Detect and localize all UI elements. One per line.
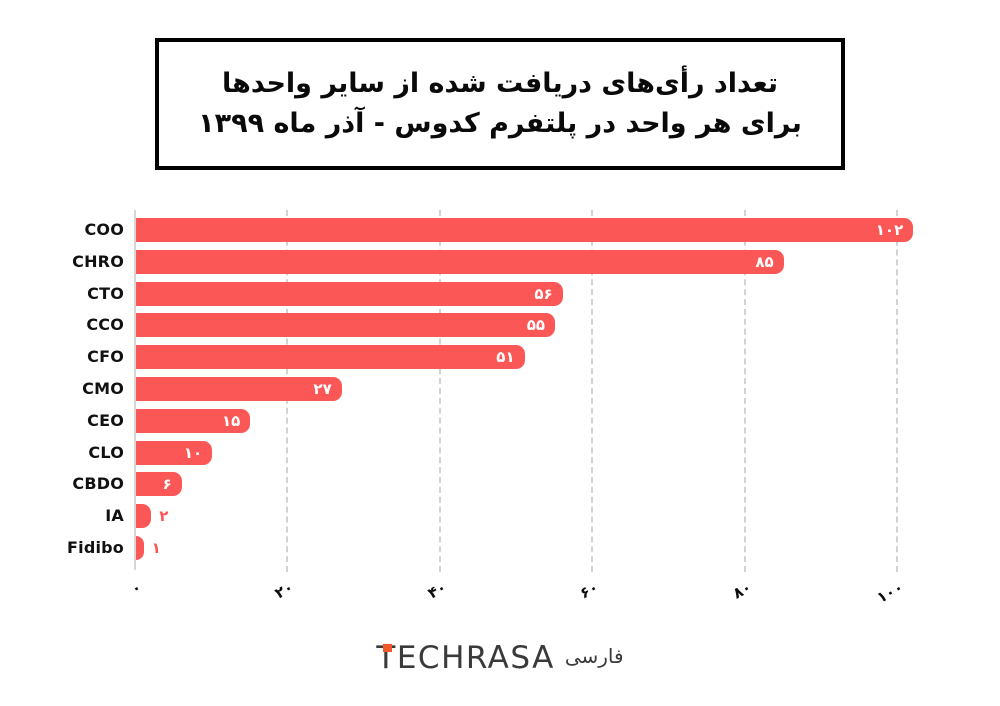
bar-row: CEO۱۵ bbox=[0, 409, 1000, 433]
bar-value-label-chro: ۸۵ bbox=[136, 250, 774, 274]
bar-value-label-cfo: ۵۱ bbox=[136, 345, 515, 369]
bar-row: CFO۵۱ bbox=[0, 345, 1000, 369]
chart-title-line-2: برای هر واحد در پلتفرم کدوس - آذر ماه ۱۳… bbox=[198, 107, 802, 141]
bar-value-label-ceo: ۱۵ bbox=[136, 409, 240, 433]
bar-row: CMO۲۷ bbox=[0, 377, 1000, 401]
x-tick-label-60: ۶۰ bbox=[563, 578, 601, 610]
category-label-cfo: CFO bbox=[0, 345, 124, 369]
bar-row: COO۱۰۲ bbox=[0, 218, 1000, 242]
category-label-cbdo: CBDO bbox=[0, 472, 124, 496]
bar-row: CBDO۶ bbox=[0, 472, 1000, 496]
category-label-ia: IA bbox=[0, 504, 124, 528]
techrasa-wordmark-text: TECHRASA bbox=[376, 640, 554, 676]
bar-row: Fidibo۱ bbox=[0, 536, 1000, 560]
bar-value-label-coo: ۱۰۲ bbox=[136, 218, 903, 242]
bar-value-label-cco: ۵۵ bbox=[136, 313, 545, 337]
x-tick-label-0: ۰ bbox=[106, 578, 144, 610]
category-label-cco: CCO bbox=[0, 313, 124, 337]
bar-row: CTO۵۶ bbox=[0, 282, 1000, 306]
bar-row: CLO۱۰ bbox=[0, 441, 1000, 465]
bar-value-label-fidibo: ۱ bbox=[152, 536, 161, 560]
bar-fidibo[interactable] bbox=[136, 536, 144, 560]
chart-title-line-1: تعداد رأی‌های دریافت شده از سایر واحدها bbox=[222, 67, 778, 101]
x-tick-label-80: ۸۰ bbox=[716, 578, 754, 610]
category-label-cto: CTO bbox=[0, 282, 124, 306]
bar-row: IA۲ bbox=[0, 504, 1000, 528]
techrasa-farsi-label: فارسی bbox=[565, 644, 624, 672]
bar-value-label-ia: ۲ bbox=[159, 504, 168, 528]
category-label-fidibo: Fidibo bbox=[0, 536, 124, 560]
bar-value-label-cmo: ۲۷ bbox=[136, 377, 332, 401]
x-tick-label-20: ۲۰ bbox=[258, 578, 296, 610]
bar-value-label-clo: ۱۰ bbox=[136, 441, 202, 465]
x-tick-label-100: ۱۰۰ bbox=[868, 578, 906, 610]
bar-value-label-cbdo: ۶ bbox=[136, 472, 172, 496]
category-label-chro: CHRO bbox=[0, 250, 124, 274]
bar-value-label-cto: ۵۶ bbox=[136, 282, 553, 306]
x-tick-label-40: ۴۰ bbox=[411, 578, 449, 610]
category-label-coo: COO bbox=[0, 218, 124, 242]
techrasa-wordmark: TECHRASA bbox=[376, 640, 554, 676]
category-label-cmo: CMO bbox=[0, 377, 124, 401]
category-label-clo: CLO bbox=[0, 441, 124, 465]
category-label-ceo: CEO bbox=[0, 409, 124, 433]
bar-chart-plot-area: COO۱۰۲CHRO۸۵CTO۵۶CCO۵۵CFO۵۱CMO۲۷CEO۱۵CLO… bbox=[0, 200, 1000, 600]
chart-title-box: تعداد رأی‌های دریافت شده از سایر واحدها … bbox=[155, 38, 845, 170]
footer-logo: TECHRASA فارسی bbox=[0, 635, 1000, 680]
logo-accent-square-icon bbox=[383, 644, 392, 652]
bar-row: CCO۵۵ bbox=[0, 313, 1000, 337]
bar-ia[interactable] bbox=[136, 504, 151, 528]
bar-row: CHRO۸۵ bbox=[0, 250, 1000, 274]
